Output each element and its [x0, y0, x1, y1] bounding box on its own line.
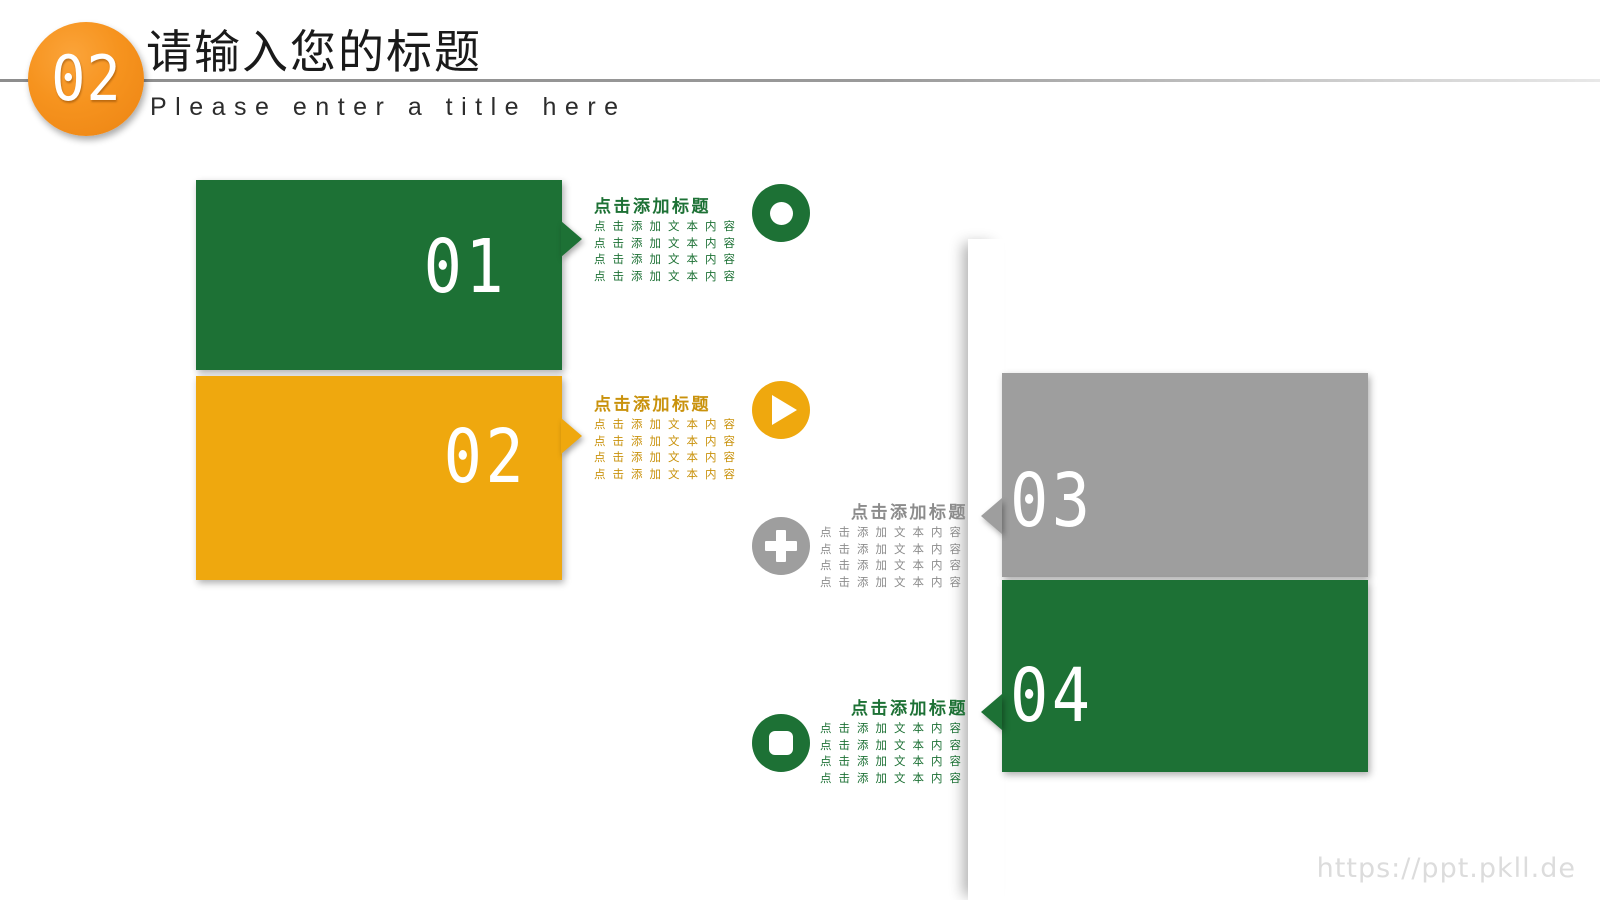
block-body-line-01-4: 点击添加文本内容: [594, 270, 742, 284]
stop-icon-square: [769, 731, 793, 755]
play-icon-triangle: [772, 395, 797, 425]
block-body-line-02-1: 点击添加文本内容: [594, 418, 742, 432]
block-body-line-01-2: 点击添加文本内容: [594, 237, 742, 251]
block-title-04: 点击添加标题: [648, 694, 968, 719]
page-subtitle: Please enter a title here: [150, 93, 627, 122]
panel-number-03: 03: [1010, 464, 1094, 538]
content-panel-03[interactable]: 03: [1002, 373, 1368, 577]
ring-icon-inner: [770, 202, 793, 225]
vertical-divider-band: [968, 239, 1004, 900]
block-body-line-03-3: 点击添加文本内容: [648, 559, 968, 573]
content-panel-01[interactable]: 01: [196, 180, 562, 370]
arrow-right-icon-02: [561, 418, 582, 454]
page-title: 请输入您的标题: [146, 16, 482, 82]
plus-icon-cross: [765, 530, 797, 562]
text-group-02: 点击添加标题 点击添加文本内容 点击添加文本内容 点击添加文本内容 点击添加文本…: [594, 390, 742, 481]
slide-number-badge: 02: [28, 22, 144, 136]
plus-icon[interactable]: [752, 517, 810, 575]
block-body-line-04-4: 点击添加文本内容: [648, 772, 968, 786]
block-body-line-03-4: 点击添加文本内容: [648, 576, 968, 590]
block-title-01: 点击添加标题: [594, 192, 742, 217]
block-title-02: 点击添加标题: [594, 390, 742, 415]
block-body-line-01-1: 点击添加文本内容: [594, 220, 742, 234]
text-group-01: 点击添加标题 点击添加文本内容 点击添加文本内容 点击添加文本内容 点击添加文本…: [594, 192, 742, 283]
content-panel-04[interactable]: 04: [1002, 580, 1368, 772]
ring-icon[interactable]: [752, 184, 810, 242]
panel-number-01: 01: [423, 230, 507, 304]
block-body-line-02-2: 点击添加文本内容: [594, 435, 742, 449]
block-body-line-04-3: 点击添加文本内容: [648, 755, 968, 769]
panel-number-04: 04: [1010, 659, 1094, 733]
content-panel-02[interactable]: 02: [196, 376, 562, 580]
arrow-left-icon-04: [981, 694, 1002, 730]
block-body-line-02-3: 点击添加文本内容: [594, 451, 742, 465]
slide-number-badge-label: 02: [51, 48, 122, 110]
block-body-line-02-4: 点击添加文本内容: [594, 468, 742, 482]
arrow-right-icon-01: [561, 221, 582, 257]
watermark-url: https://ppt.pkll.de: [1317, 853, 1576, 884]
arrow-left-icon-03: [981, 498, 1002, 534]
block-title-03: 点击添加标题: [648, 498, 968, 523]
play-icon[interactable]: [752, 381, 810, 439]
block-body-line-01-3: 点击添加文本内容: [594, 253, 742, 267]
stop-icon[interactable]: [752, 714, 810, 772]
panel-number-02: 02: [443, 420, 527, 494]
